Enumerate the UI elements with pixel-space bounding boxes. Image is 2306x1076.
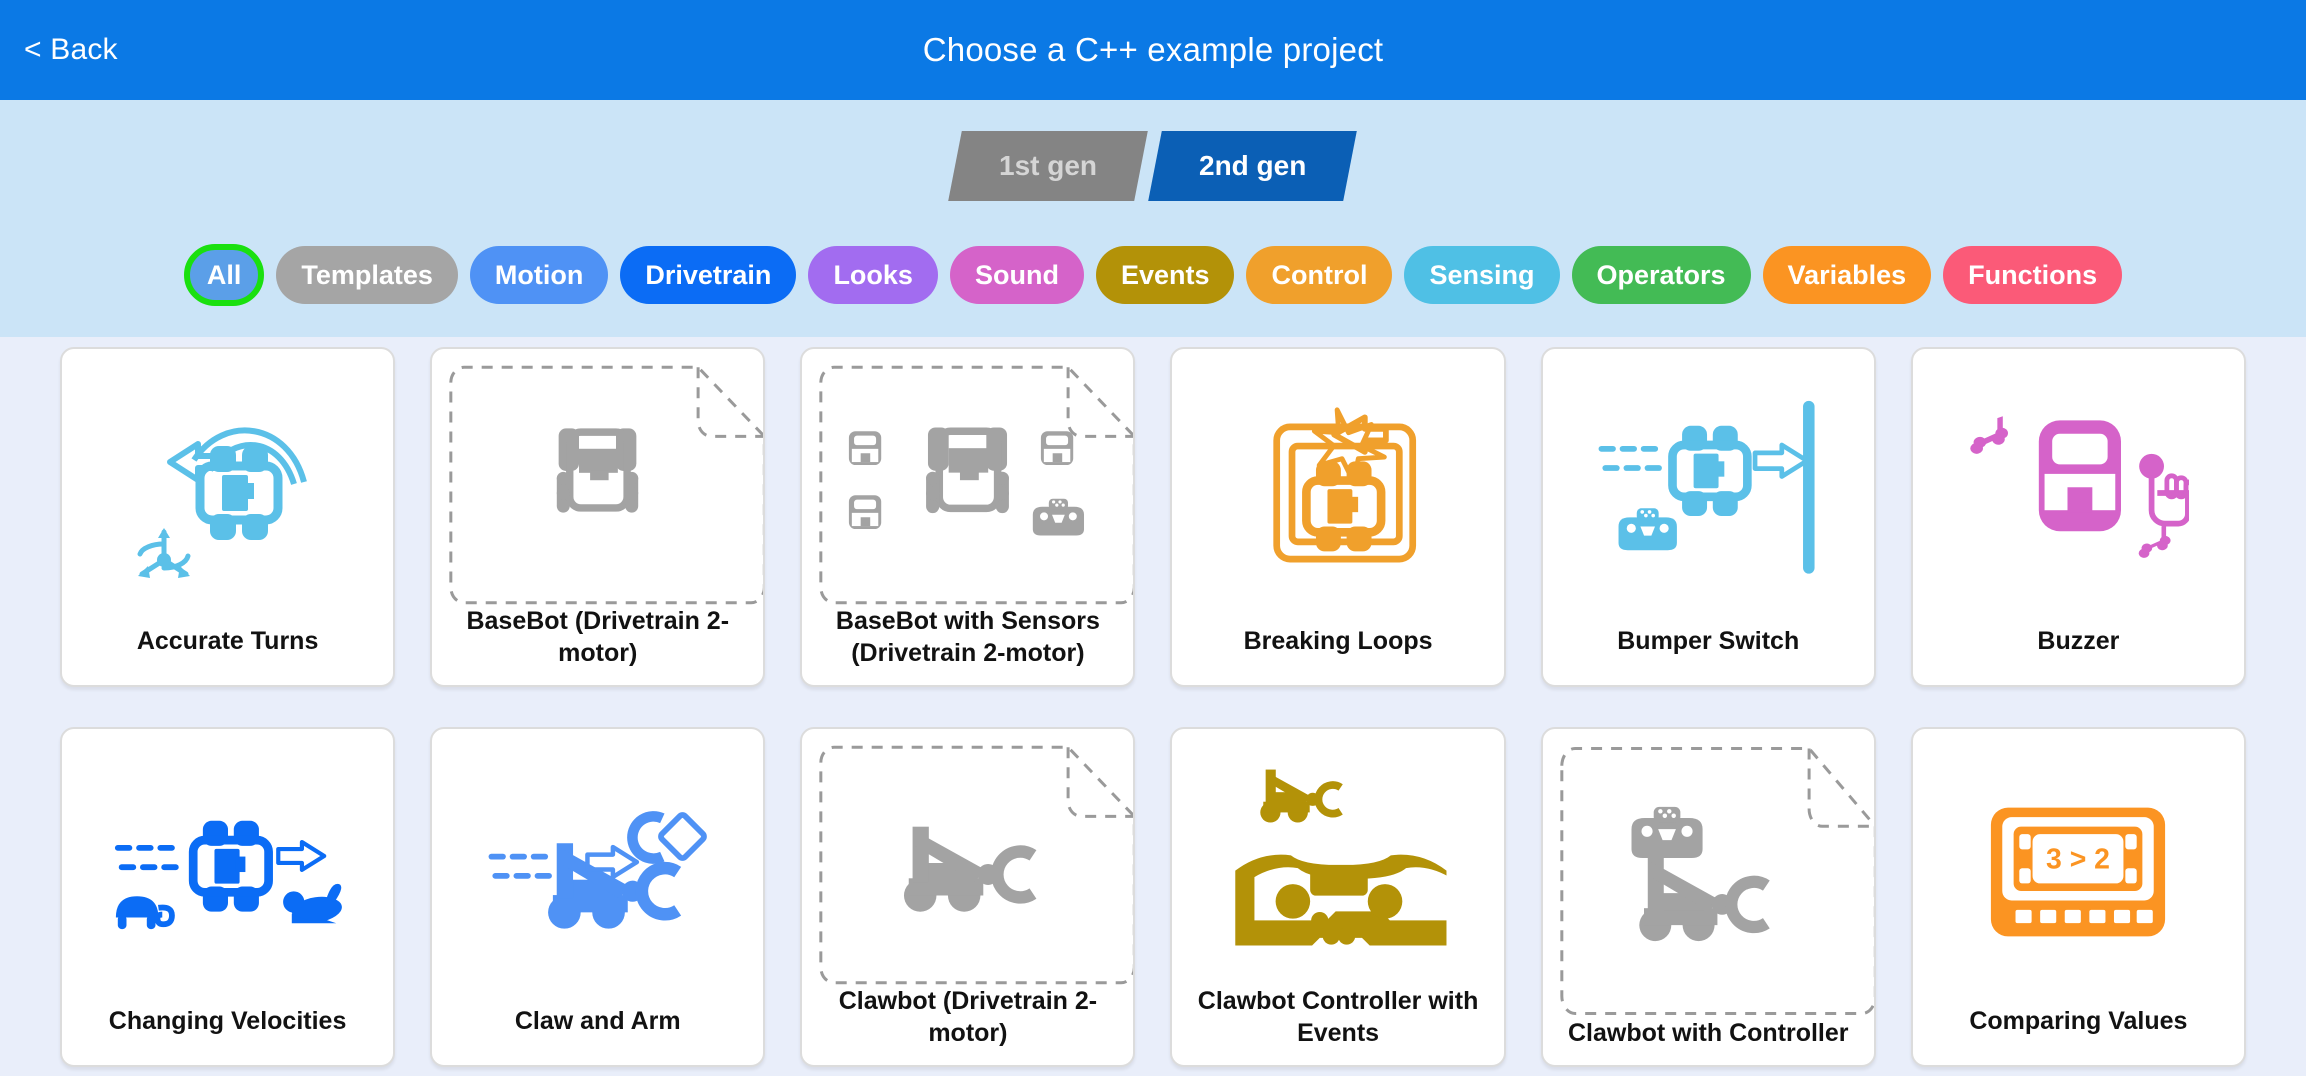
project-card[interactable]: Breaking Loops — [1170, 347, 1505, 687]
compare-screen-text: 3 > 2 — [2046, 843, 2110, 875]
category-pill-all[interactable]: All — [184, 244, 265, 306]
project-card-artwork — [1913, 349, 2244, 625]
project-grid: Accurate Turns BaseBot (Drivetrain 2-mot… — [60, 347, 2246, 1067]
category-pill-sensing[interactable]: Sensing — [1404, 246, 1559, 304]
filter-band: 1st gen 2nd gen AllTemplatesMotionDrivet… — [0, 100, 2306, 337]
project-card-artwork — [802, 729, 1133, 985]
robot-turtle-rabbit-icon — [112, 805, 344, 941]
brain-screen-compare-icon: 3 > 2 — [1982, 802, 2174, 944]
project-card[interactable]: Clawbot Controller with Events — [1170, 727, 1505, 1067]
project-card[interactable]: Buzzer — [1911, 347, 2246, 687]
category-pill-label: Functions — [1968, 260, 2097, 291]
top-bar: < Back Choose a C++ example project — [0, 0, 2306, 100]
project-card-label: Accurate Turns — [62, 625, 393, 685]
category-pill-motion[interactable]: Motion — [470, 246, 608, 304]
robot-turn-gyro-icon — [128, 408, 328, 578]
project-card-artwork — [1172, 349, 1503, 625]
tab-1st-gen[interactable]: 1st gen — [949, 131, 1149, 201]
project-card-artwork — [1543, 349, 1874, 625]
robot-bumper-wall-icon — [1597, 397, 1819, 589]
category-pill-sound[interactable]: Sound — [950, 246, 1084, 304]
project-grid-area: Accurate Turns BaseBot (Drivetrain 2-mot… — [0, 337, 2306, 1076]
project-card-label: Breaking Loops — [1172, 625, 1503, 685]
clawbot-controller-icon — [1227, 767, 1449, 959]
project-card-label: Changing Velocities — [62, 1005, 393, 1065]
category-pill-label: All — [207, 260, 242, 291]
category-pill-label: Templates — [301, 260, 433, 291]
category-filter-group: AllTemplatesMotionDrivetrainLooksSoundEv… — [0, 244, 2306, 306]
category-pill-label: Operators — [1597, 260, 1726, 291]
brain-buzzer-notes-icon — [1967, 407, 2189, 579]
project-card-artwork — [802, 349, 1133, 605]
category-pill-label: Variables — [1788, 260, 1907, 291]
project-card-artwork — [62, 729, 393, 1005]
project-card[interactable]: Bumper Switch — [1541, 347, 1876, 687]
category-pill-label: Motion — [495, 260, 583, 291]
project-card[interactable]: Accurate Turns — [60, 347, 395, 687]
category-pill-operators[interactable]: Operators — [1572, 246, 1751, 304]
tab-2nd-gen[interactable]: 2nd gen — [1149, 131, 1358, 201]
project-card-label: Buzzer — [1913, 625, 2244, 685]
project-card-label: BaseBot (Drivetrain 2-motor) — [432, 605, 763, 685]
category-pill-label: Drivetrain — [645, 260, 771, 291]
project-card-label: Clawbot Controller with Events — [1172, 985, 1503, 1065]
generation-tab-group: 1st gen 2nd gen — [0, 125, 2306, 201]
tab-1st-gen-label: 1st gen — [999, 150, 1097, 182]
tab-2nd-gen-label: 2nd gen — [1199, 150, 1306, 182]
project-card[interactable]: Claw and Arm — [430, 727, 765, 1067]
project-card-artwork — [1543, 729, 1874, 1017]
page-title: Choose a C++ example project — [0, 31, 2306, 69]
category-pill-templates[interactable]: Templates — [276, 246, 458, 304]
category-pill-label: Sensing — [1429, 260, 1534, 291]
project-card-artwork — [432, 729, 763, 1005]
project-card[interactable]: BaseBot with Sensors (Drivetrain 2-motor… — [800, 347, 1135, 687]
category-pill-label: Control — [1271, 260, 1367, 291]
category-pill-events[interactable]: Events — [1096, 246, 1235, 304]
category-pill-functions[interactable]: Functions — [1943, 246, 2122, 304]
project-card-label: Comparing Values — [1913, 1005, 2244, 1065]
project-card-label: Claw and Arm — [432, 1005, 763, 1065]
category-pill-looks[interactable]: Looks — [808, 246, 938, 304]
project-card[interactable]: BaseBot (Drivetrain 2-motor) — [430, 347, 765, 687]
clawbot-arm-object-icon — [487, 801, 709, 945]
back-button[interactable]: < Back — [24, 33, 118, 67]
project-card-artwork — [432, 349, 763, 605]
project-card[interactable]: 3 > 2 Comparing Values — [1911, 727, 2246, 1067]
project-card-artwork — [62, 349, 393, 625]
category-pill-label: Events — [1121, 260, 1210, 291]
category-pill-drivetrain[interactable]: Drivetrain — [620, 246, 796, 304]
project-card-label: Bumper Switch — [1543, 625, 1874, 685]
project-card[interactable]: Clawbot with Controller — [1541, 727, 1876, 1067]
project-card-label: Clawbot (Drivetrain 2-motor) — [802, 985, 1133, 1065]
loop-break-robot-icon — [1242, 402, 1434, 584]
category-pill-label: Looks — [833, 260, 913, 291]
category-pill-label: Sound — [975, 260, 1059, 291]
project-card[interactable]: Clawbot (Drivetrain 2-motor) — [800, 727, 1135, 1067]
project-card-artwork: 3 > 2 — [1913, 729, 2244, 1005]
project-card-label: BaseBot with Sensors (Drivetrain 2-motor… — [802, 605, 1133, 685]
project-card[interactable]: Changing Velocities — [60, 727, 395, 1067]
category-pill-control[interactable]: Control — [1246, 246, 1392, 304]
category-pill-variables[interactable]: Variables — [1763, 246, 1932, 304]
project-card-artwork — [1172, 729, 1503, 985]
